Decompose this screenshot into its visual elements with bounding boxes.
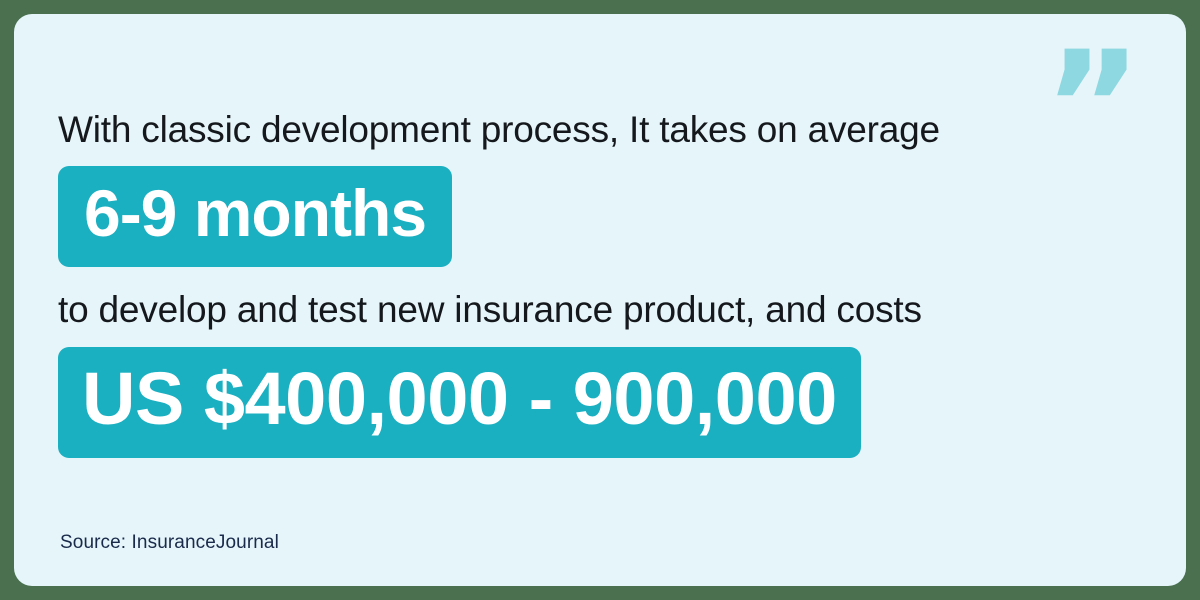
stat-card: ” With classic development process, It t… [14, 14, 1186, 586]
duration-badge: 6-9 months [58, 166, 452, 267]
duration-badge-row: 6-9 months [58, 152, 1146, 267]
statement-line-two: to develop and test new insurance produc… [58, 288, 1146, 332]
source-attribution: Source: InsuranceJournal [60, 532, 279, 554]
statement-block: With classic development process, It tak… [58, 108, 1146, 458]
cost-badge-row: US $400,000 - 900,000 [58, 331, 1146, 458]
cost-badge: US $400,000 - 900,000 [58, 347, 861, 458]
statement-line-one: With classic development process, It tak… [58, 108, 1146, 152]
